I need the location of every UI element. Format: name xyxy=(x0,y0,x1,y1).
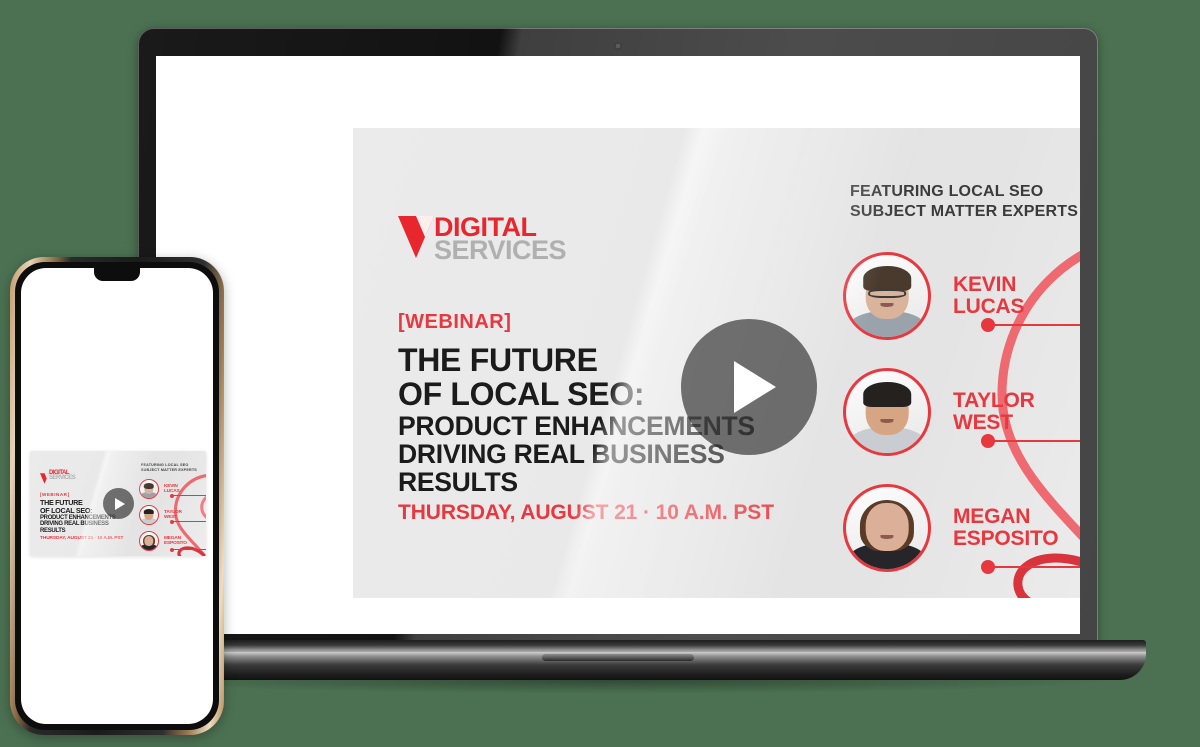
headshot-taylor-west-avatar xyxy=(843,368,931,456)
headshot-megan-esposito-avatar xyxy=(843,484,931,572)
play-button[interactable] xyxy=(681,319,817,455)
laptop-base-notch xyxy=(542,654,694,661)
speaker-name: TAYLOR WEST xyxy=(164,510,182,520)
v-chevron-logo-icon xyxy=(40,471,49,489)
webcam-icon xyxy=(614,42,622,50)
speaker-connector-line xyxy=(988,566,1080,568)
laptop-base-shadow xyxy=(110,680,1126,694)
speaker-first-name: KEVIN xyxy=(953,274,1024,296)
speaker-connector-line xyxy=(988,324,1080,326)
logo-text-services: SERVICES xyxy=(434,239,566,262)
play-triangle-icon xyxy=(734,361,776,413)
speaker-name: TAYLOR WEST xyxy=(953,390,1035,434)
speaker-item: KEVIN LUCAS xyxy=(139,476,206,502)
headline-line-5: RESULTS xyxy=(40,528,140,535)
v-chevron-logo-icon xyxy=(398,216,434,263)
headshot-kevin-lucas-avatar xyxy=(139,479,159,499)
speaker-first-name: TAYLOR xyxy=(953,390,1035,412)
speaker-first-name: MEGAN xyxy=(953,506,1058,528)
play-button[interactable] xyxy=(103,488,134,519)
connector-dot xyxy=(170,548,174,552)
speaker-last-name: WEST xyxy=(953,412,1035,434)
speaker-connector-line xyxy=(172,549,206,550)
featuring-line-2: SUBJECT MATTER EXPERTS xyxy=(141,468,197,473)
speaker-item: TAYLOR WEST xyxy=(843,354,1080,470)
speaker-connector-line xyxy=(172,495,206,496)
speaker-item: KEVIN LUCAS xyxy=(843,238,1080,354)
laptop-screen: DIGITAL SERVICES [WEBINAR] THE FUTURE OF… xyxy=(156,56,1080,634)
speaker-last-name: ESPOSITO xyxy=(953,528,1058,550)
headshot-megan-esposito-avatar xyxy=(139,531,159,551)
logo-text-services: SERVICES xyxy=(49,476,75,481)
speaker-list: KEVIN LUCAS TAYLOR W xyxy=(139,476,206,554)
phone-notch xyxy=(94,268,140,281)
connector-dot xyxy=(981,560,995,574)
webinar-promo-card-mobile[interactable]: DIGITAL SERVICES [WEBINAR] THE FUTURE OF… xyxy=(30,451,206,556)
featuring-heading: FEATURING LOCAL SEO SUBJECT MATTER EXPER… xyxy=(850,182,1078,221)
speaker-name: MEGAN ESPOSITO xyxy=(164,536,187,546)
connector-dot xyxy=(981,434,995,448)
speaker-list: KEVIN LUCAS xyxy=(843,238,1080,586)
brand-logo: DIGITAL SERVICES xyxy=(398,216,566,263)
speaker-connector-line xyxy=(172,521,206,522)
webinar-datetime: THURSDAY, AUGUST 21 · 10 A.M. PST xyxy=(40,536,140,541)
laptop-base xyxy=(90,640,1146,686)
headshot-taylor-west-avatar xyxy=(139,505,159,525)
connector-dot xyxy=(170,494,174,498)
connector-dot xyxy=(170,520,174,524)
phone-screen: DIGITAL SERVICES [WEBINAR] THE FUTURE OF… xyxy=(21,268,213,724)
speaker-last-name: ESPOSITO xyxy=(164,541,187,546)
brand-logo: DIGITAL SERVICES xyxy=(40,471,75,489)
speaker-connector-line xyxy=(988,440,1080,442)
featuring-heading: FEATURING LOCAL SEO SUBJECT MATTER EXPER… xyxy=(141,463,197,472)
phone-mockup: DIGITAL SERVICES [WEBINAR] THE FUTURE OF… xyxy=(10,257,224,735)
speaker-name: KEVIN LUCAS xyxy=(953,274,1024,318)
headshot-kevin-lucas-avatar xyxy=(843,252,931,340)
webinar-promo-card[interactable]: DIGITAL SERVICES [WEBINAR] THE FUTURE OF… xyxy=(353,128,1080,598)
headline-line-5: RESULTS xyxy=(398,468,828,496)
speaker-last-name: LUCAS xyxy=(953,296,1024,318)
speaker-name: KEVIN LUCAS xyxy=(164,484,180,494)
laptop-mockup: DIGITAL SERVICES [WEBINAR] THE FUTURE OF… xyxy=(138,28,1098,658)
speaker-item: MEGAN ESPOSITO xyxy=(843,470,1080,586)
connector-dot xyxy=(981,318,995,332)
featuring-line-1: FEATURING LOCAL SEO xyxy=(850,182,1078,202)
speaker-item: TAYLOR WEST xyxy=(139,502,206,528)
webinar-datetime: THURSDAY, AUGUST 21 · 10 A.M. PST xyxy=(398,501,828,525)
speaker-item: MEGAN ESPOSITO xyxy=(139,528,206,554)
play-triangle-icon xyxy=(115,498,125,510)
featuring-line-2: SUBJECT MATTER EXPERTS xyxy=(850,202,1078,222)
speaker-name: MEGAN ESPOSITO xyxy=(953,506,1058,550)
